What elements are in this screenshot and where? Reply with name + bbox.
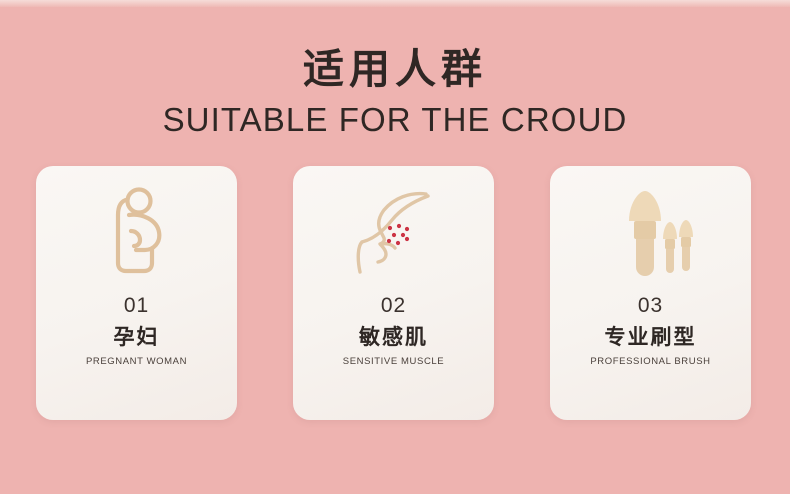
card-number: 03 [638,294,663,318]
card-sensitive-muscle[interactable]: 02 敏感肌 SENSITIVE MUSCLE [293,166,494,420]
card-list: 01 孕妇 PREGNANT WOMAN [36,166,751,420]
brush-small [679,220,693,271]
card-icon-slot [550,166,751,294]
page-header: 适用人群 SUITABLE FOR THE CROUD [0,44,790,140]
promo-banner: 适用人群 SUITABLE FOR THE CROUD [0,0,790,494]
card-label-cn: 专业刷型 [605,324,697,350]
sensitive-face-icon [348,188,440,278]
card-number: 01 [124,294,149,318]
card-label-en: PROFESSIONAL BRUSH [590,356,710,368]
card-label-en: SENSITIVE MUSCLE [343,356,444,368]
card-icon-slot [36,166,237,294]
card-label-cn: 孕妇 [114,324,160,350]
card-label-en: PREGNANT WOMAN [86,356,187,368]
card-professional-brush[interactable]: 03 专业刷型 PROFESSIONAL BRUSH [550,166,751,420]
makeup-brushes-icon [607,185,695,281]
card-number: 02 [381,294,406,318]
pregnant-woman-icon [102,187,172,279]
irritation-dots [386,224,408,245]
brush-large [629,191,661,276]
page-title-en: SUITABLE FOR THE CROUD [0,100,790,140]
top-accent-band [0,0,790,7]
brush-medium [663,222,677,273]
page-title-cn: 适用人群 [0,44,790,94]
card-pregnant-woman[interactable]: 01 孕妇 PREGNANT WOMAN [36,166,237,420]
card-icon-slot [293,166,494,294]
card-label-cn: 敏感肌 [359,324,428,350]
